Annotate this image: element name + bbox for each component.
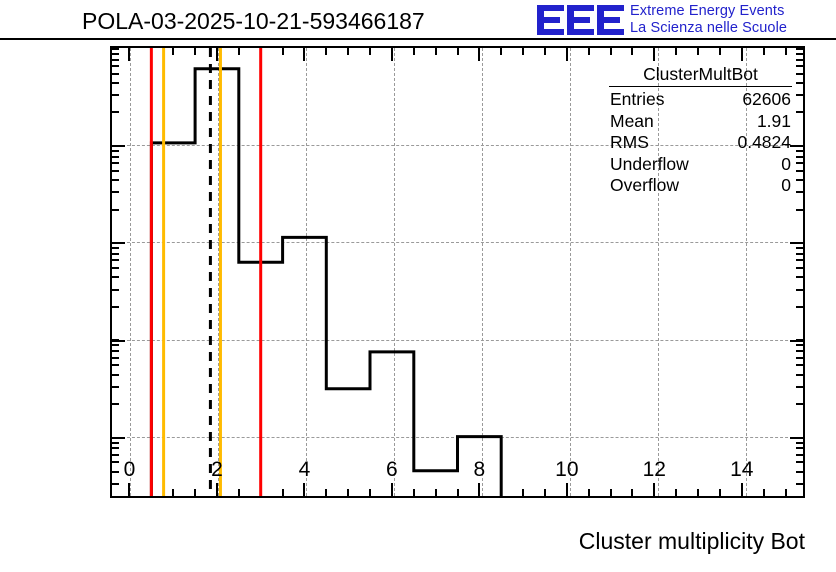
- stats-row-value: 1.91: [757, 111, 791, 133]
- stats-row-value: 62606: [742, 89, 791, 111]
- header-divider: [0, 38, 836, 40]
- xtick-label: 2: [211, 458, 223, 482]
- stats-row: Mean1.91: [607, 111, 794, 133]
- marker-lines: [151, 48, 260, 496]
- xtick-label: 0: [124, 458, 136, 482]
- histogram-outline: [151, 69, 501, 496]
- xtick-label: 12: [643, 458, 666, 482]
- stats-row: Entries62606: [607, 89, 794, 111]
- stats-row-key: Underflow: [610, 154, 689, 176]
- root-canvas: POLA-03-2025-10-21-593466187 Extreme Ene…: [0, 0, 836, 572]
- xtick-label: 6: [386, 458, 398, 482]
- eee-logo-icon: [536, 3, 628, 37]
- stats-row: RMS0.4824: [607, 132, 794, 154]
- stats-row-key: Overflow: [610, 175, 679, 197]
- eee-logo-line1: Extreme Energy Events: [630, 3, 787, 20]
- stats-box: ClusterMultBot Entries62606Mean1.91RMS0.…: [607, 64, 794, 197]
- page-title: POLA-03-2025-10-21-593466187: [82, 8, 425, 35]
- xtick-label: 10: [555, 458, 578, 482]
- stats-row-key: Mean: [610, 111, 654, 133]
- eee-logo-text: Extreme Energy Events La Scienza nelle S…: [630, 3, 787, 37]
- xtick-label: 4: [299, 458, 311, 482]
- xtick-label: 14: [730, 458, 753, 482]
- stats-row: Overflow0: [607, 175, 794, 197]
- stats-row: Underflow0: [607, 154, 794, 176]
- stats-box-rows: Entries62606Mean1.91RMS0.4824Underflow0O…: [607, 89, 794, 197]
- x-axis-title: Cluster multiplicity Bot: [579, 528, 805, 555]
- stats-row-value: 0.4824: [737, 132, 791, 154]
- stats-row-key: RMS: [610, 132, 649, 154]
- eee-logo: Extreme Energy Events La Scienza nelle S…: [536, 2, 834, 38]
- eee-logo-line2: La Scienza nelle Scuole: [630, 20, 787, 37]
- stats-box-title: ClusterMultBot: [609, 64, 792, 87]
- stats-row-key: Entries: [610, 89, 664, 111]
- stats-row-value: 0: [781, 175, 791, 197]
- stats-row-value: 0: [781, 154, 791, 176]
- xtick-label: 8: [474, 458, 486, 482]
